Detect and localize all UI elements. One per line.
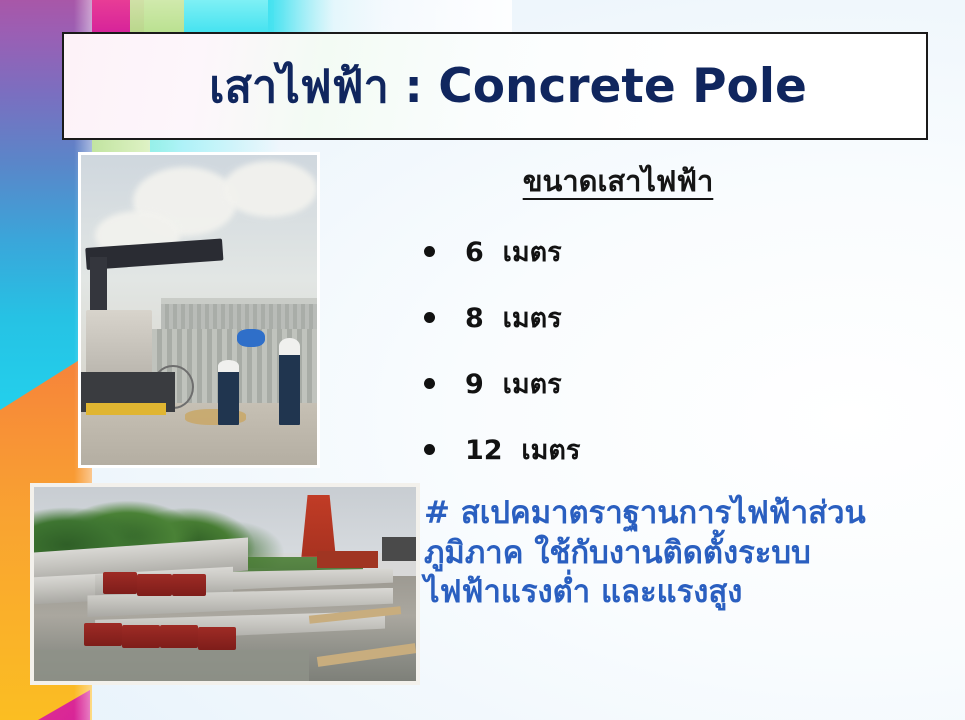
- pole-size-label: 9 เมตร: [465, 362, 562, 405]
- spec-note-line: ภูมิภาค ใช้กับงานติดตั้งระบบ: [424, 534, 936, 574]
- page-title: เสาไฟฟ้า : Concrete Pole: [183, 63, 807, 110]
- bullet-dot-icon: [424, 444, 435, 455]
- list-item: 6 เมตร: [424, 218, 944, 284]
- spec-note: # สเปคมาตราฐานการไฟฟ้าส่วน ภูมิภาค ใช้กั…: [424, 494, 936, 613]
- photo-pole-red-end: [160, 625, 198, 648]
- bullet-dot-icon: [424, 246, 435, 257]
- photo-blue-tarp: [237, 329, 265, 348]
- pole-size-list: 6 เมตร 8 เมตร 9 เมตร 12 เมตร: [424, 218, 944, 482]
- content-panel: ขนาดเสาไฟฟ้า 6 เมตร 8 เมตร 9 เมตร 12 เมต…: [424, 158, 944, 482]
- photo-cloud: [223, 161, 317, 217]
- list-item: 8 เมตร: [424, 284, 944, 350]
- pole-size-label: 6 เมตร: [465, 230, 562, 273]
- photo-pole-red-end: [137, 574, 171, 595]
- photo-truck-cab: [86, 310, 152, 378]
- photo-distant-truck: [382, 537, 416, 560]
- spec-note-line: ไฟฟ้าแรงต่ำ และแรงสูง: [424, 573, 936, 613]
- bullet-dot-icon: [424, 312, 435, 323]
- photo-concrete-pole: [204, 174, 213, 419]
- photo-pole-red-end: [103, 572, 137, 593]
- photo-crane-base: [317, 551, 378, 568]
- photo-worker: [218, 369, 239, 425]
- list-item: 12 เมตร: [424, 416, 944, 482]
- title-box: เสาไฟฟ้า : Concrete Pole: [62, 32, 928, 140]
- bullet-dot-icon: [424, 378, 435, 389]
- photo-pole-red-end: [84, 623, 122, 646]
- photo-puddle: [34, 650, 309, 681]
- image-stacked-poles: [30, 483, 420, 685]
- image-pole-installation: [78, 152, 320, 468]
- photo-pole-red-end: [198, 627, 236, 650]
- title-english: Concrete Pole: [438, 59, 807, 114]
- photo-pole-red-end: [172, 574, 206, 595]
- slide-canvas: เสาไฟฟ้า : Concrete Pole: [0, 0, 965, 720]
- photo-helmet: [218, 360, 239, 372]
- list-item: 9 เมตร: [424, 350, 944, 416]
- photo-pole-red-end: [122, 625, 160, 648]
- sizes-heading: ขนาดเสาไฟฟ้า: [468, 158, 768, 204]
- spec-note-line: # สเปคมาตราฐานการไฟฟ้าส่วน: [424, 494, 936, 534]
- pole-size-label: 8 เมตร: [465, 296, 562, 339]
- pole-size-label: 12 เมตร: [465, 428, 580, 471]
- photo-helmet: [279, 338, 300, 354]
- photo-worker: [279, 350, 300, 424]
- photo-outrigger: [86, 403, 166, 415]
- title-separator: :: [389, 60, 438, 113]
- title-thai: เสาไฟฟ้า: [209, 60, 389, 113]
- stripe-wash-overlay: [92, 0, 512, 34]
